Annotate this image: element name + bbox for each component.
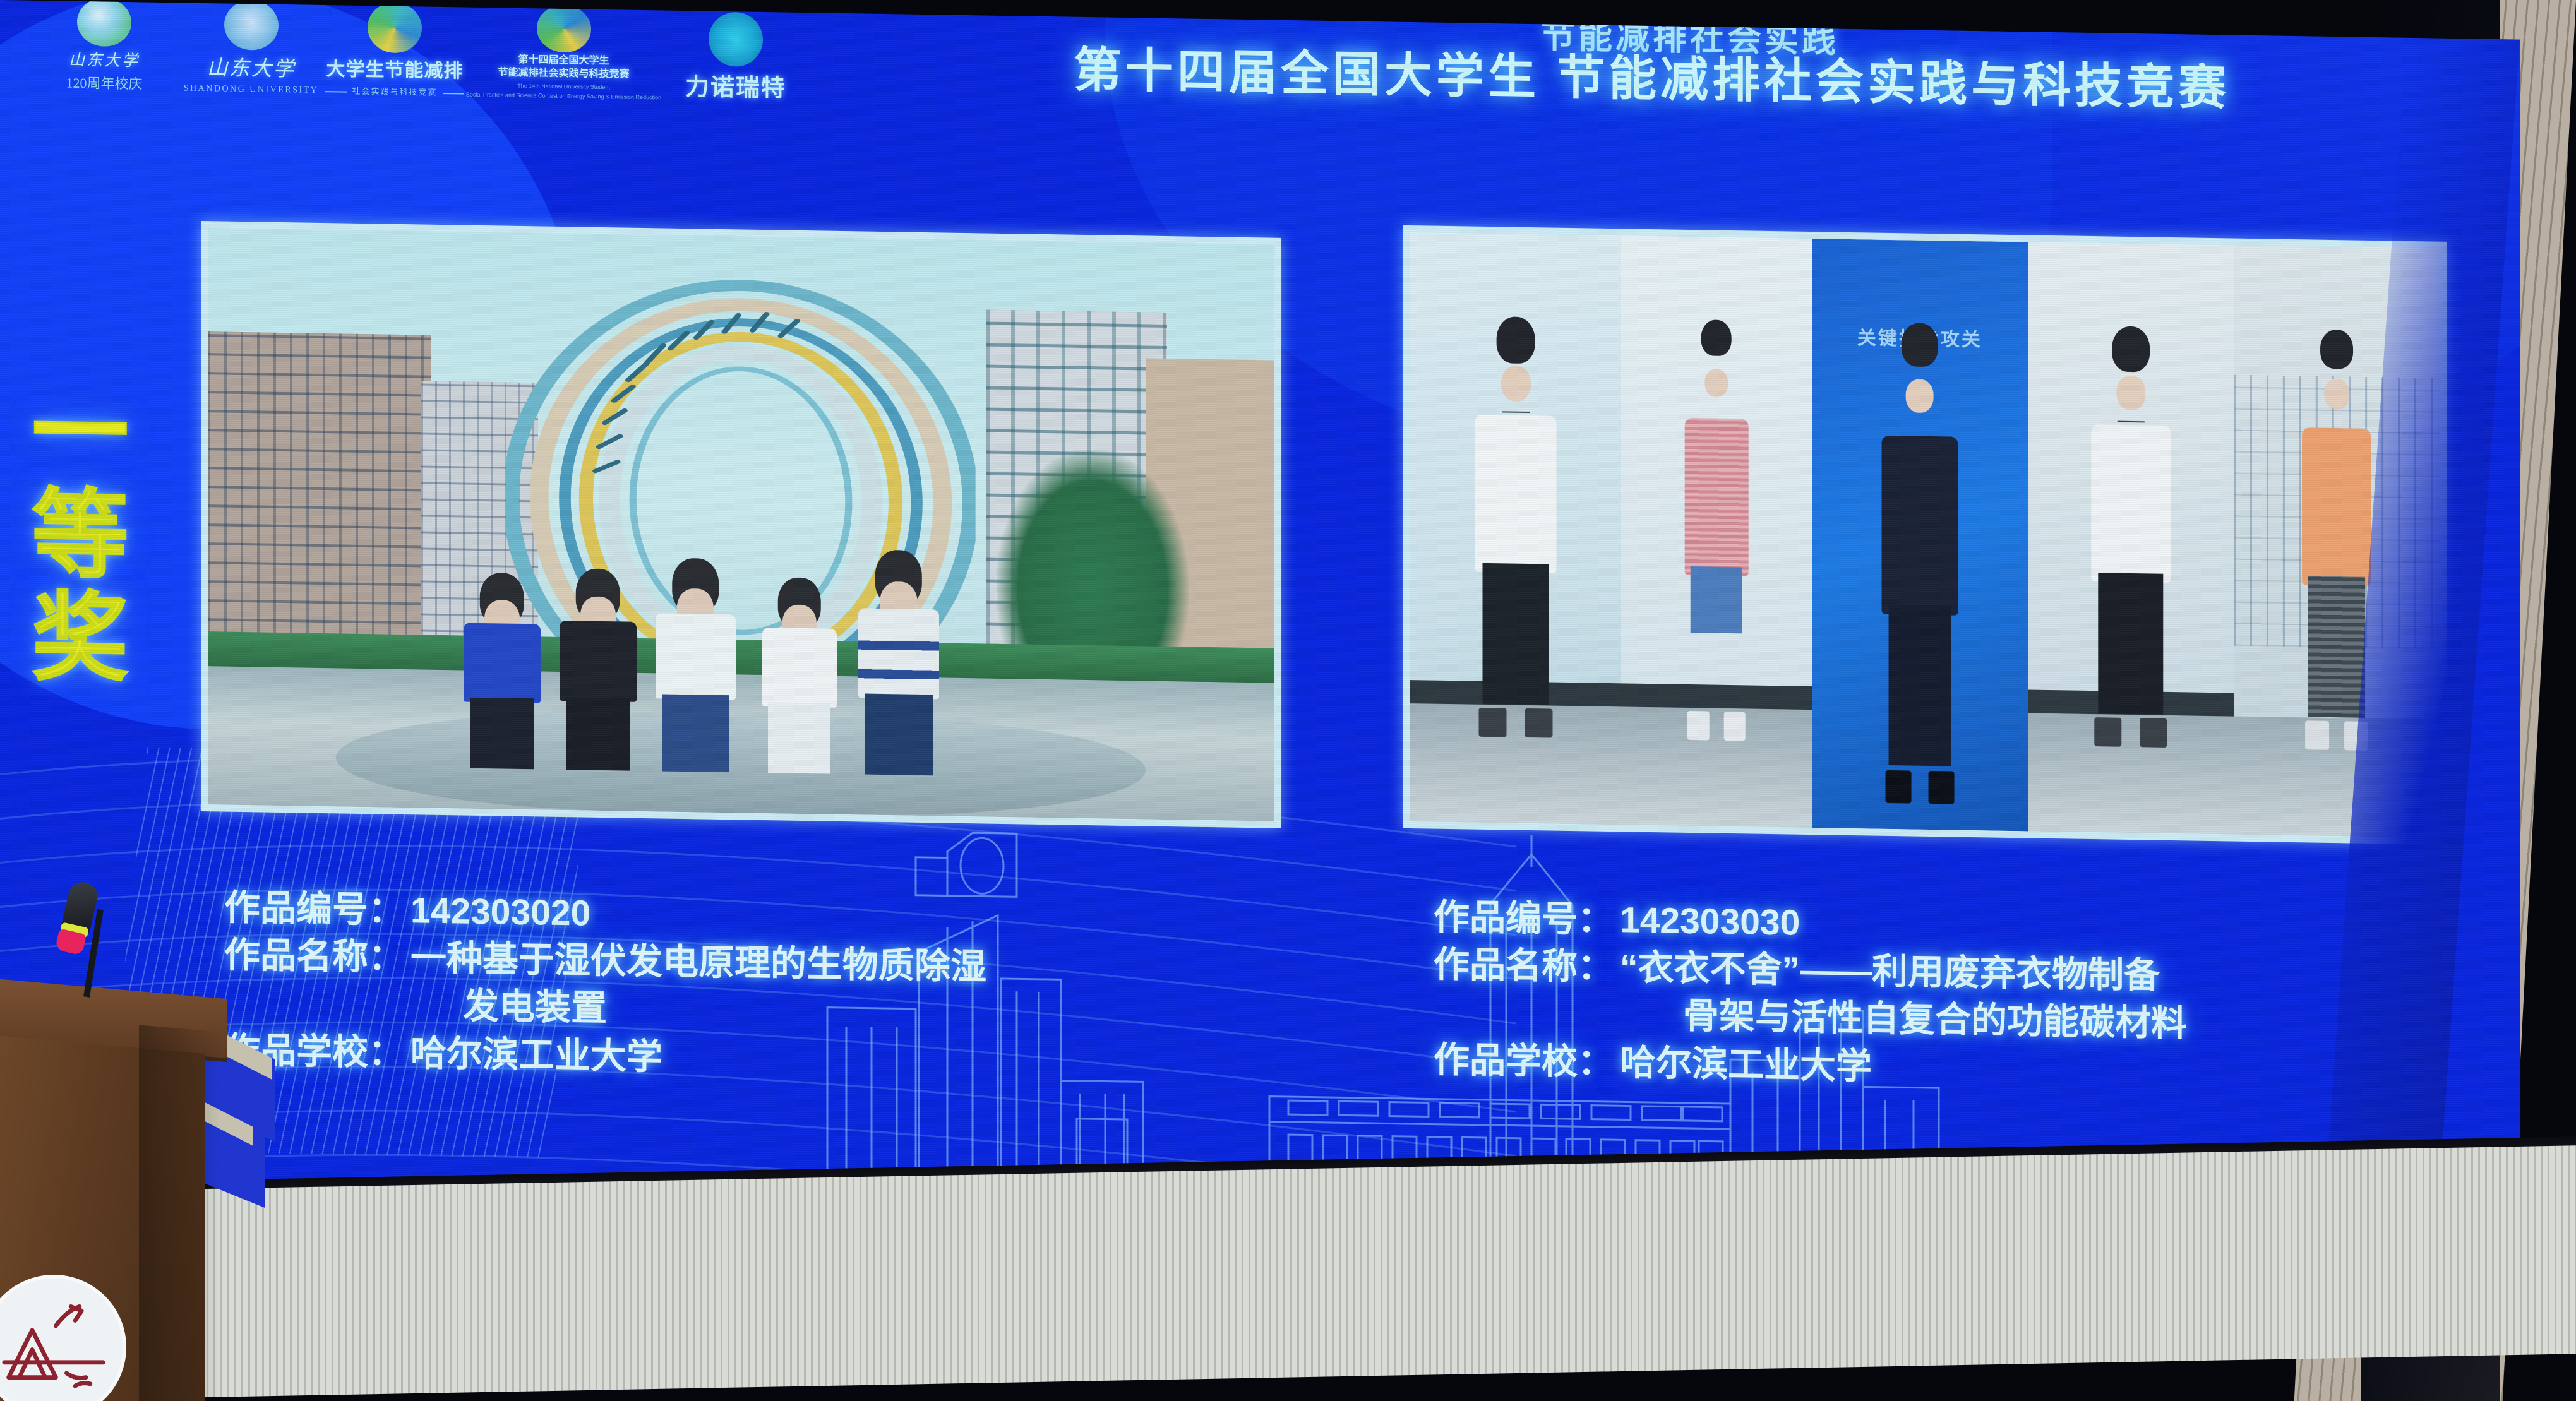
- pants: [2098, 573, 2163, 715]
- student-figure: [656, 558, 736, 773]
- legs: [768, 702, 830, 773]
- shandong-university-seal-icon: [0, 1294, 107, 1401]
- podium: [0, 921, 253, 1401]
- figure: [2085, 326, 2176, 739]
- logo-cn-text: 山东大学: [69, 47, 140, 71]
- sdu-anniversary-emblem-icon: [77, 0, 131, 47]
- project-name-line1: 一种基于湿伏发电原理的生物质除湿: [410, 934, 986, 991]
- logo-cn-text: 大学生节能减排: [326, 53, 464, 83]
- legs: [470, 698, 534, 769]
- logo-cn-line1: 第十四届全国大学生: [518, 52, 609, 68]
- suit-trousers: [1889, 605, 1951, 766]
- face-icon: [2116, 376, 2145, 411]
- head-icon: [1902, 323, 1938, 367]
- figure: [1876, 322, 1963, 795]
- portrait-student-2: [1621, 235, 1812, 828]
- shirt: [1475, 415, 1556, 573]
- torso: [464, 623, 541, 703]
- shoe-left: [2305, 720, 2328, 749]
- project-info-right: 作品编号： 142303030 作品名称： “衣衣不舍”——利用废弃衣物制备 骨…: [1434, 894, 2187, 1096]
- head-icon: [1701, 319, 1732, 356]
- logo-shandong-university: 山东大学 SHANDONG UNIVERSITY: [183, 0, 319, 96]
- shoe-right: [1525, 708, 1553, 737]
- portrait-student-4: [2028, 242, 2234, 834]
- podium-shadow: [139, 1025, 221, 1401]
- head-icon: [2320, 329, 2353, 369]
- award-rank-label: 一 等 奖: [14, 385, 147, 687]
- logo-linuo-paradigma: 力诺瑞特: [657, 6, 815, 104]
- award-char-2: 等: [32, 489, 128, 584]
- project-info-left: 作品编号： 142303020 作品名称： 一种基于湿伏发电原理的生物质除湿 发…: [224, 885, 986, 1087]
- rule-left-icon: [325, 91, 347, 93]
- shoe-left: [1478, 708, 1506, 737]
- shoe-right: [2140, 718, 2167, 747]
- legs: [865, 693, 933, 775]
- led-display-screen: 山东大学 120周年校庆 山东大学 SHANDONG UNIVERSITY 大学…: [0, 0, 2520, 1287]
- shoe-left: [2095, 717, 2122, 746]
- torso: [762, 628, 837, 707]
- suit-jacket: [1882, 436, 1958, 616]
- legs: [566, 697, 630, 771]
- logo-cn-text: 力诺瑞特: [685, 67, 786, 104]
- shoe-left: [1687, 711, 1709, 740]
- portrait-student-1: [1410, 232, 1621, 825]
- project-photo-right: 关键技术攻关: [1403, 225, 2447, 845]
- logo-competition-brand: 大学生节能减排 社会实践与科技竞赛: [319, 1, 470, 98]
- logo-sdu-anniversary: 山东大学 120周年校庆: [25, 0, 183, 94]
- pants: [2308, 576, 2364, 717]
- project-photo-left: [201, 221, 1281, 828]
- building-left-1: [208, 332, 431, 681]
- student-figure: [858, 549, 939, 775]
- project-number-label: 作品编号：: [1434, 894, 1614, 945]
- logo-cn-line2: 节能减排社会实践与科技竞赛: [498, 66, 629, 82]
- student-figure: [560, 568, 637, 770]
- project-school-label: 作品学校：: [1434, 1036, 1614, 1087]
- shoe-left: [1885, 770, 1911, 804]
- portrait-student-3: 关键技术攻关: [1812, 239, 2028, 831]
- figure: [1680, 319, 1753, 732]
- project-school-value: 哈尔滨工业大学: [410, 1030, 662, 1082]
- head-icon: [1496, 316, 1535, 364]
- logo-sub-text: 120周年校庆: [66, 72, 142, 93]
- pants: [1691, 567, 1742, 634]
- logo-sub-text: 社会实践与科技竞赛: [320, 84, 469, 98]
- pants: [1482, 563, 1549, 705]
- shandong-university-seal-icon: [224, 0, 279, 51]
- student-figure: [762, 577, 837, 774]
- project-number-value: 142303030: [1620, 897, 1800, 947]
- award-char-3: 奖: [32, 592, 128, 687]
- project-school-value: 哈尔滨工业大学: [1620, 1039, 1872, 1091]
- torso: [560, 621, 637, 703]
- logo-sub-line1: The 14th National University Student: [517, 82, 610, 91]
- logo-sub-text: SHANDONG UNIVERSITY: [184, 84, 319, 96]
- torso: [656, 613, 736, 700]
- face-icon: [1501, 366, 1531, 402]
- shoe-right: [1723, 712, 1745, 741]
- shoe-right: [1929, 771, 1955, 804]
- face-icon: [1705, 369, 1728, 397]
- project-number-value: 142303020: [410, 887, 590, 938]
- shirt: [2091, 424, 2171, 582]
- face-icon: [1906, 379, 1934, 413]
- head-icon: [2112, 326, 2150, 372]
- project-name-line1: “衣衣不舍”——利用废弃衣物制备: [1620, 945, 2160, 1001]
- rule-right-icon: [443, 93, 464, 95]
- logo-sub-line2: Social Practice and Science Contest on E…: [466, 90, 661, 101]
- shirt: [2302, 428, 2371, 586]
- student-figure: [464, 572, 541, 769]
- torso: [858, 608, 939, 699]
- sponsor-logo-strip: 山东大学 120周年校庆 山东大学 SHANDONG UNIVERSITY 大学…: [25, 0, 1061, 107]
- 14th-competition-emblem-icon: [537, 4, 591, 52]
- award-char-1: 一: [32, 386, 128, 481]
- auditorium-scene: 山东大学 120周年校庆 山东大学 SHANDONG UNIVERSITY 大学…: [0, 0, 2576, 1401]
- legs: [662, 695, 729, 772]
- competition-leaf-emblem-icon: [368, 2, 422, 53]
- figure: [1470, 316, 1562, 729]
- logo-cn-text: 山东大学: [207, 51, 296, 82]
- shirt: [1684, 418, 1748, 576]
- logo-14th-competition: 第十四届全国大学生 节能减排社会实践与科技竞赛 The 14th Nationa…: [470, 4, 657, 102]
- campus-team-photo: [208, 228, 1274, 821]
- linuo-paradigma-emblem-icon: [709, 12, 763, 67]
- face-icon: [2324, 379, 2349, 409]
- project-name-label: 作品名称：: [1434, 941, 1614, 992]
